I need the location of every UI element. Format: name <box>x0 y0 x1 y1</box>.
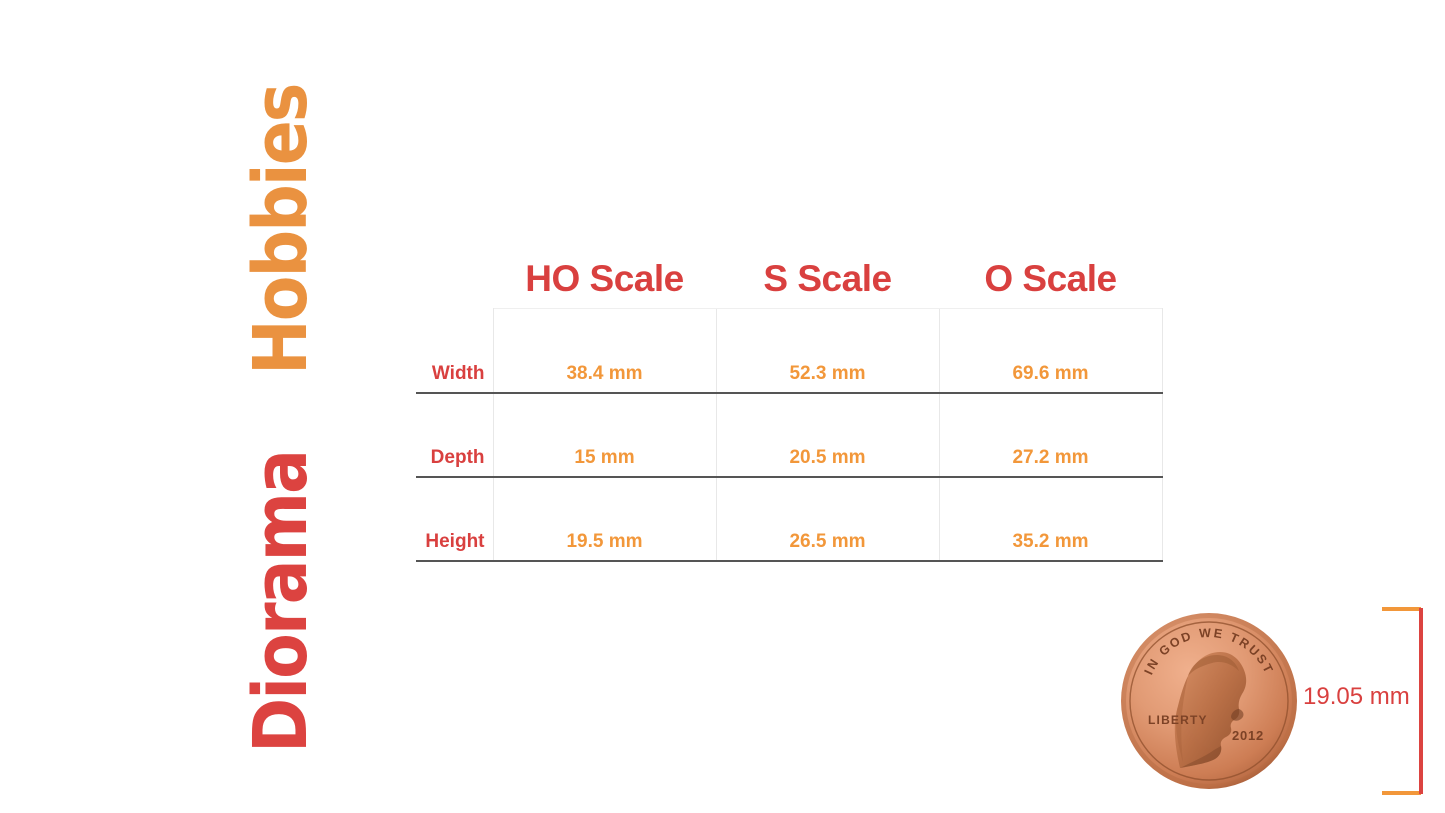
cell-height-o: 35.2 mm <box>939 477 1162 561</box>
column-header-ho-scale: HO Scale <box>493 258 716 309</box>
column-header-o-scale: O Scale <box>939 258 1162 309</box>
cell-width-ho: 38.4 mm <box>493 309 716 393</box>
penny-coin-icon: IN GOD WE TRUST LIBERTY 2012 <box>1118 610 1300 792</box>
scale-dimensions-table: HO Scale S Scale O Scale Width 38.4 mm 5… <box>416 258 1162 562</box>
cell-depth-s: 20.5 mm <box>716 393 939 477</box>
table-corner-cell <box>416 258 493 309</box>
brand-logo-hobbies: Hobbies <box>244 85 318 375</box>
dimensions-table: HO Scale S Scale O Scale Width 38.4 mm 5… <box>416 258 1163 562</box>
table-row: Height 19.5 mm 26.5 mm 35.2 mm <box>416 477 1162 561</box>
header-row: HO Scale S Scale O Scale <box>416 258 1162 309</box>
row-label-depth: Depth <box>416 393 493 477</box>
row-label-height: Height <box>416 477 493 561</box>
cell-width-o: 69.6 mm <box>939 309 1162 393</box>
cell-height-ho: 19.5 mm <box>493 477 716 561</box>
column-header-s-scale: S Scale <box>716 258 939 309</box>
cell-width-s: 52.3 mm <box>716 309 939 393</box>
coin-liberty-text: LIBERTY <box>1148 713 1208 727</box>
table-header: HO Scale S Scale O Scale <box>416 258 1162 309</box>
row-label-width: Width <box>416 309 493 393</box>
table-body: Width 38.4 mm 52.3 mm 69.6 mm Depth 15 m… <box>416 309 1162 561</box>
cell-height-s: 26.5 mm <box>716 477 939 561</box>
size-reference-group: IN GOD WE TRUST LIBERTY 2012 19.05 mm <box>1118 605 1438 800</box>
brand-logo-diorama: Diorama <box>244 451 318 753</box>
brand-logo: Hobbies Diorama <box>0 0 300 813</box>
measurement-bracket-icon <box>1380 605 1425 797</box>
cell-depth-o: 27.2 mm <box>939 393 1162 477</box>
table-row: Width 38.4 mm 52.3 mm 69.6 mm <box>416 309 1162 393</box>
table-row: Depth 15 mm 20.5 mm 27.2 mm <box>416 393 1162 477</box>
cell-depth-ho: 15 mm <box>493 393 716 477</box>
coin-year-text: 2012 <box>1232 728 1264 743</box>
